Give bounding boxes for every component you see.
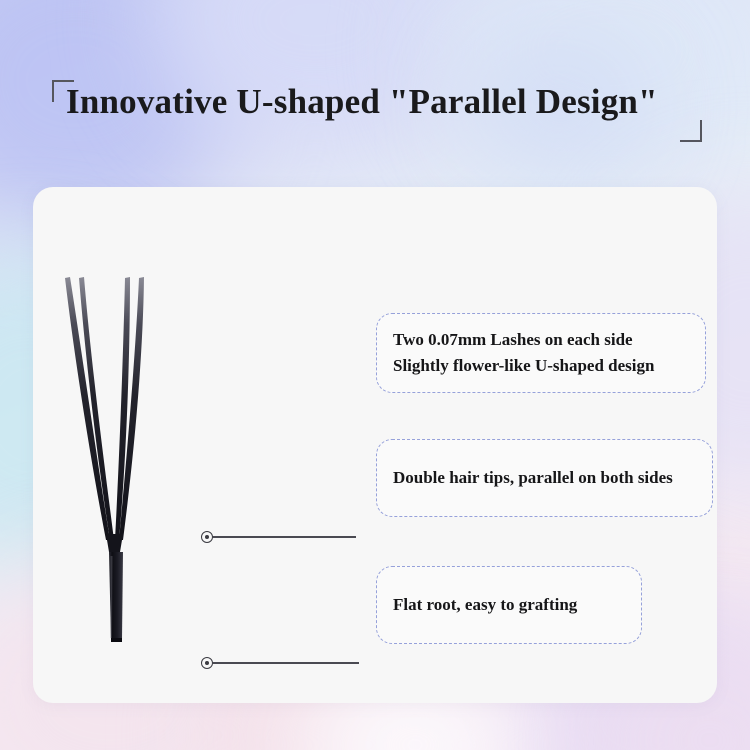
connector-1 [201, 527, 356, 547]
connector-dot-icon [201, 531, 213, 543]
content-card: Two 0.07mm Lashes on each side Slightly … [33, 187, 717, 703]
feature-box-3: Flat root, easy to grafting [376, 566, 642, 644]
feature-3-line-1: Flat root, easy to grafting [393, 592, 625, 618]
feature-1-line-2: Slightly flower-like U-shaped design [393, 353, 689, 379]
page-title-text: Innovative U-shaped "Parallel Design" [66, 82, 658, 122]
feature-box-1: Two 0.07mm Lashes on each side Slightly … [376, 313, 706, 393]
feature-2-line-1: Double hair tips, parallel on both sides [393, 465, 696, 491]
product-image-lash-fan [53, 272, 213, 652]
feature-box-2: Double hair tips, parallel on both sides [376, 439, 713, 517]
promo-graphic-root: Innovative U-shaped "Parallel Design" [0, 0, 750, 750]
connector-line [213, 662, 359, 664]
connector-line [213, 536, 356, 538]
page-title: Innovative U-shaped "Parallel Design" [52, 80, 702, 152]
lash-fan-svg [53, 272, 213, 652]
connector-dot-icon [201, 657, 213, 669]
feature-1-line-1: Two 0.07mm Lashes on each side [393, 327, 689, 353]
corner-bracket-bottom-right-icon [680, 120, 702, 142]
lash-root-tip [111, 638, 122, 642]
connector-2 [201, 653, 359, 673]
